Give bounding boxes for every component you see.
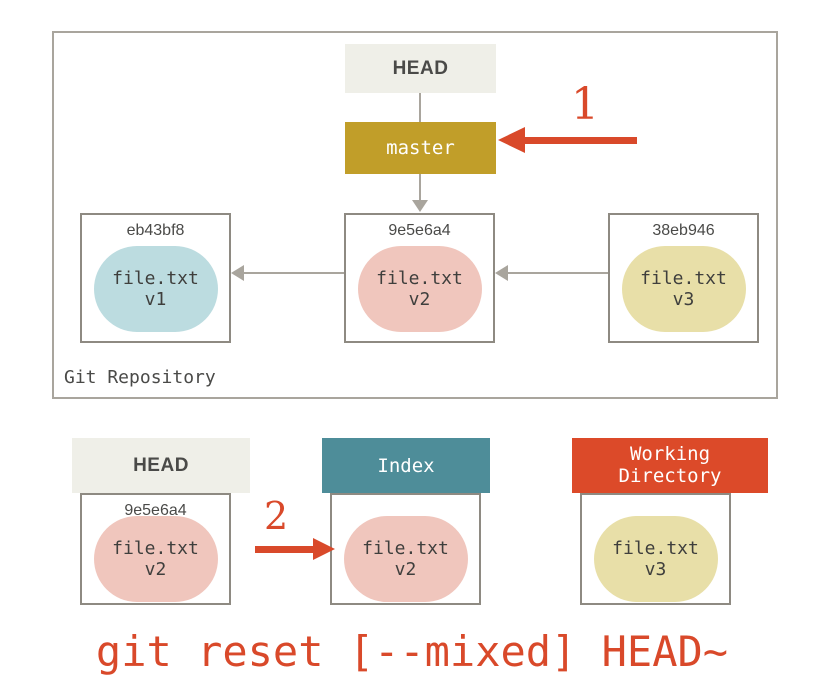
index-tree-header: Index bbox=[322, 438, 490, 493]
annotation-1-line bbox=[525, 137, 637, 144]
parent-link-arrowhead-icon bbox=[231, 265, 244, 281]
commit-box-38eb946: 38eb946 file.txt v3 bbox=[608, 213, 759, 343]
blob-version: v2 bbox=[395, 559, 417, 580]
git-repository-label: Git Repository bbox=[64, 367, 216, 388]
master-branch-label: master bbox=[386, 137, 455, 159]
blob-filename: file.txt bbox=[112, 538, 199, 559]
blob-version: v2 bbox=[409, 289, 431, 310]
head-pointer-box: HEAD bbox=[345, 44, 496, 93]
working-directory-blob: file.txt v3 bbox=[594, 516, 718, 602]
working-directory-header-line1: Working bbox=[630, 444, 710, 465]
commit-blob: file.txt v3 bbox=[622, 246, 746, 332]
commit-hash: eb43bf8 bbox=[82, 222, 229, 240]
head-tree-blob: file.txt v2 bbox=[94, 516, 218, 602]
commit-hash: 9e5e6a4 bbox=[346, 222, 493, 240]
head-pointer-label: HEAD bbox=[393, 58, 449, 80]
head-tree-header: HEAD bbox=[72, 438, 250, 493]
commit-blob: file.txt v2 bbox=[358, 246, 482, 332]
blob-version: v2 bbox=[145, 559, 167, 580]
head-to-master-line bbox=[419, 93, 421, 122]
index-tree-body: file.txt v2 bbox=[330, 493, 481, 605]
annotation-2-line bbox=[255, 546, 315, 553]
working-directory-header: Working Directory bbox=[572, 438, 768, 493]
commit-blob: file.txt v1 bbox=[94, 246, 218, 332]
blob-version: v1 bbox=[145, 289, 167, 310]
annotation-2-arrowhead-icon bbox=[313, 538, 335, 560]
command-caption: git reset [--mixed] HEAD~ bbox=[0, 627, 824, 676]
head-tree-body: 9e5e6a4 file.txt v2 bbox=[80, 493, 231, 605]
commit-hash: 38eb946 bbox=[610, 222, 757, 240]
master-branch-box: master bbox=[345, 122, 496, 174]
head-tree-header-label: HEAD bbox=[133, 455, 189, 477]
working-directory-header-line2: Directory bbox=[619, 466, 722, 487]
commit-box-eb43bf8: eb43bf8 file.txt v1 bbox=[80, 213, 231, 343]
master-to-commit-arrowhead-icon bbox=[412, 200, 428, 212]
blob-filename: file.txt bbox=[376, 268, 463, 289]
annotation-1-number: 1 bbox=[571, 83, 599, 127]
annotation-2-number: 2 bbox=[264, 497, 288, 535]
index-tree-blob: file.txt v2 bbox=[344, 516, 468, 602]
parent-link-line-2-to-1 bbox=[244, 272, 344, 274]
annotation-1-arrowhead-icon bbox=[498, 127, 525, 153]
blob-filename: file.txt bbox=[362, 538, 449, 559]
blob-filename: file.txt bbox=[112, 268, 199, 289]
blob-version: v3 bbox=[673, 289, 695, 310]
blob-filename: file.txt bbox=[640, 268, 727, 289]
working-directory-body: file.txt v3 bbox=[580, 493, 731, 605]
master-to-commit-line bbox=[419, 174, 421, 202]
parent-link-line-3-to-2 bbox=[508, 272, 608, 274]
blob-version: v3 bbox=[645, 559, 667, 580]
commit-box-9e5e6a4: 9e5e6a4 file.txt v2 bbox=[344, 213, 495, 343]
blob-filename: file.txt bbox=[612, 538, 699, 559]
parent-link-arrowhead-icon bbox=[495, 265, 508, 281]
index-tree-header-label: Index bbox=[377, 455, 434, 477]
diagram-canvas: Git Repository HEAD master eb43bf8 file.… bbox=[0, 0, 824, 678]
